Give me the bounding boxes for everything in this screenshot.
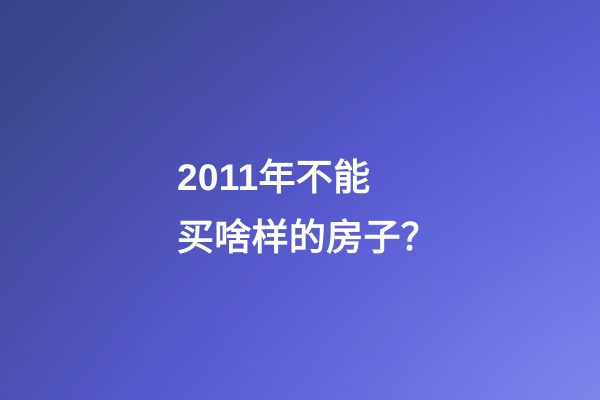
headline-line-2: 买啥样的房子？ (177, 208, 438, 268)
headline-line-1: 2011年不能 (177, 148, 370, 208)
promo-banner: 2011年不能 买啥样的房子？ (0, 0, 600, 400)
headline-block: 2011年不能 买啥样的房子？ (177, 148, 438, 268)
